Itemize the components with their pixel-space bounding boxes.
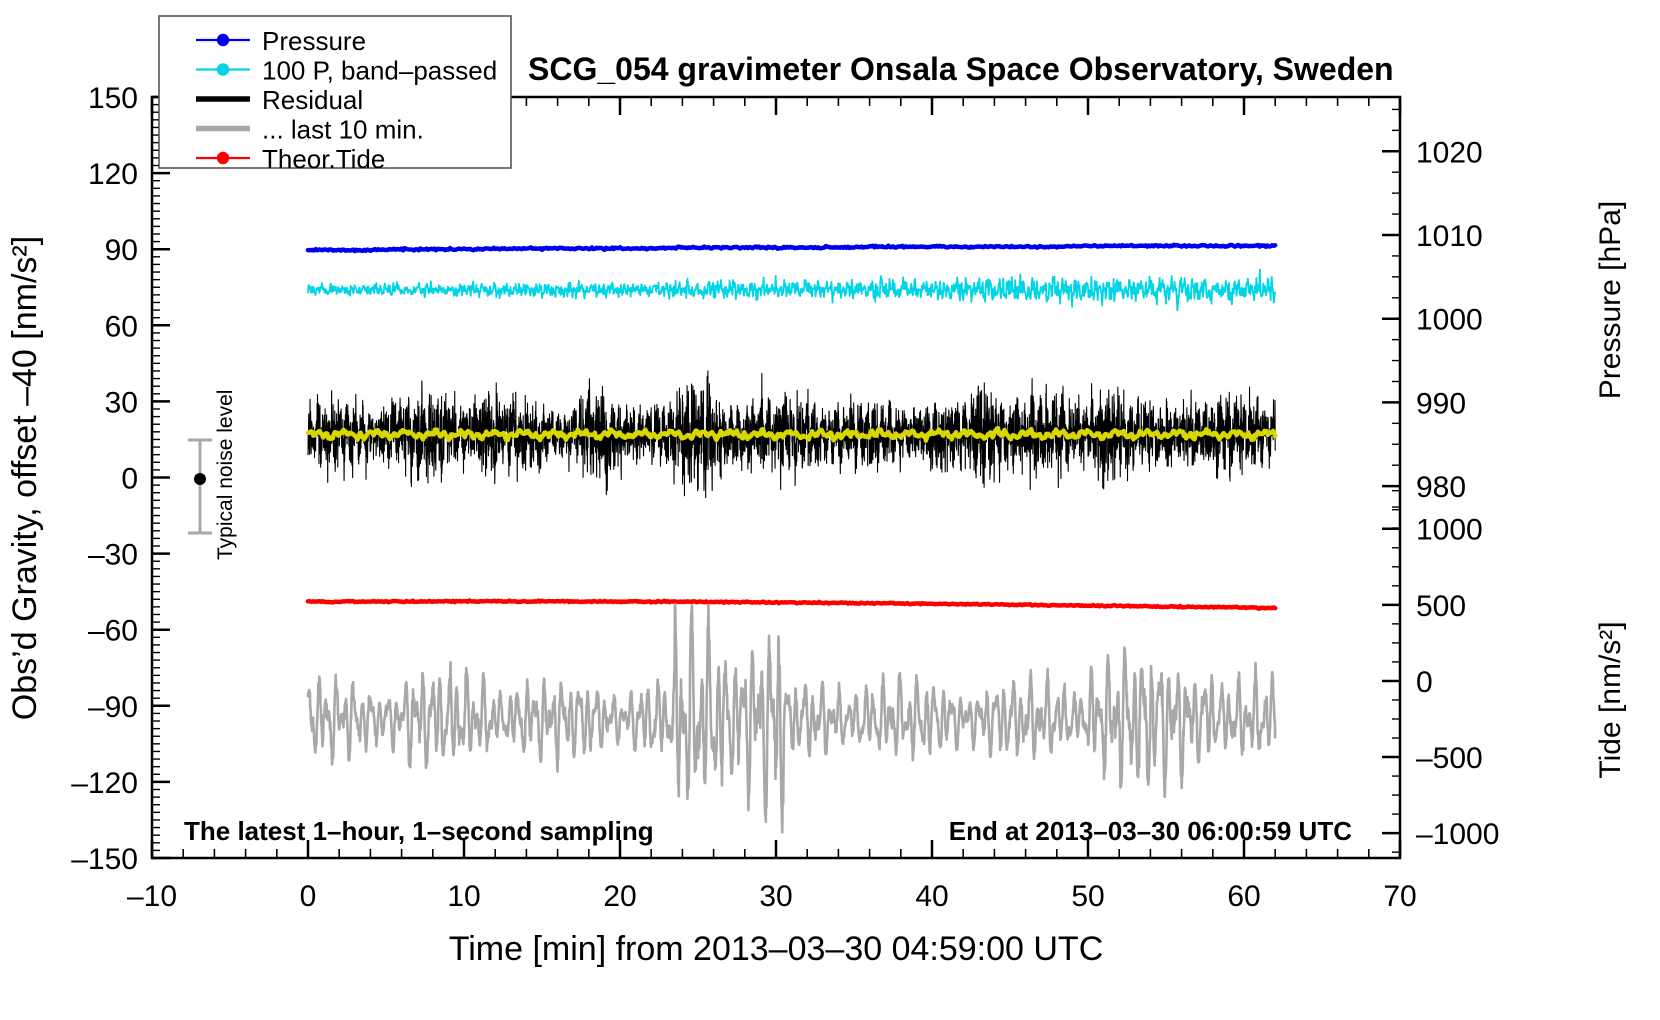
y-tick-label-left: –60 (88, 615, 138, 648)
y-tick-label-right-pressure: 980 (1416, 471, 1466, 504)
note-left: The latest 1–hour, 1–second sampling (184, 816, 654, 846)
x-tick-label: 30 (759, 880, 792, 913)
y-axis-left-title: Obs’d Gravity, offset –40 [nm/s²] (6, 236, 44, 720)
noise-level-label: Typical noise level (214, 390, 237, 560)
legend-marker (217, 34, 229, 46)
legend-label: Pressure (262, 26, 366, 56)
y-tick-label-right-pressure: 1010 (1416, 220, 1483, 253)
x-tick-label: 0 (300, 880, 317, 913)
x-tick-label: 40 (915, 880, 948, 913)
chart-figure: –10010203040506070 1501209060300–30–60–9… (0, 0, 1660, 1020)
y-tick-label-left: –30 (88, 539, 138, 572)
x-tick-label: 10 (447, 880, 480, 913)
y-tick-label-left: 30 (105, 386, 138, 419)
y-tick-label-right-tide: –500 (1416, 742, 1483, 775)
legend-label: Theor.Tide (262, 144, 385, 174)
y-tick-label-left: –90 (88, 691, 138, 724)
y-tick-label-right-pressure: 1020 (1416, 136, 1483, 169)
legend-marker (217, 63, 229, 75)
x-tick-label: 50 (1071, 880, 1104, 913)
y-tick-label-left: 0 (121, 463, 138, 496)
legend-label: ... last 10 min. (262, 115, 424, 145)
y-tick-label-left: 150 (88, 82, 138, 115)
y-tick-label-right-tide: –1000 (1416, 818, 1499, 851)
legend-label: 100 P, band–passed (262, 56, 497, 86)
y-axis-right-pressure-title: Pressure [hPa] (1594, 201, 1627, 399)
x-axis-title: Time [min] from 2013–03–30 04:59:00 UTC (449, 930, 1104, 968)
plot-title: SCG_054 gravimeter Onsala Space Observat… (528, 51, 1394, 87)
y-tick-label-left: 120 (88, 158, 138, 191)
y-tick-label-right-tide: 1000 (1416, 514, 1483, 547)
x-tick-label: 60 (1227, 880, 1260, 913)
legend-marker (217, 152, 229, 164)
note-right: End at 2013–03–30 06:00:59 UTC (949, 816, 1352, 846)
y-tick-label-right-tide: 500 (1416, 590, 1466, 623)
y-tick-label-right-pressure: 1000 (1416, 304, 1483, 337)
legend: Pressure100 P, band–passedResidual... la… (159, 16, 511, 174)
y-tick-label-left: 60 (105, 310, 138, 343)
y-axis-right-tide-title: Tide [nm/s²] (1594, 621, 1627, 778)
y-tick-label-right-pressure: 990 (1416, 387, 1466, 420)
y-tick-label-left: –150 (71, 843, 138, 876)
x-tick-label: 70 (1383, 880, 1416, 913)
x-tick-label: –10 (127, 880, 177, 913)
legend-label: Residual (262, 85, 363, 115)
y-tick-label-left: 90 (105, 234, 138, 267)
y-tick-label-right-tide: 0 (1416, 666, 1433, 699)
y-tick-label-left: –120 (71, 767, 138, 800)
plot-svg: –10010203040506070 1501209060300–30–60–9… (0, 0, 1660, 1020)
x-tick-label: 20 (603, 880, 636, 913)
